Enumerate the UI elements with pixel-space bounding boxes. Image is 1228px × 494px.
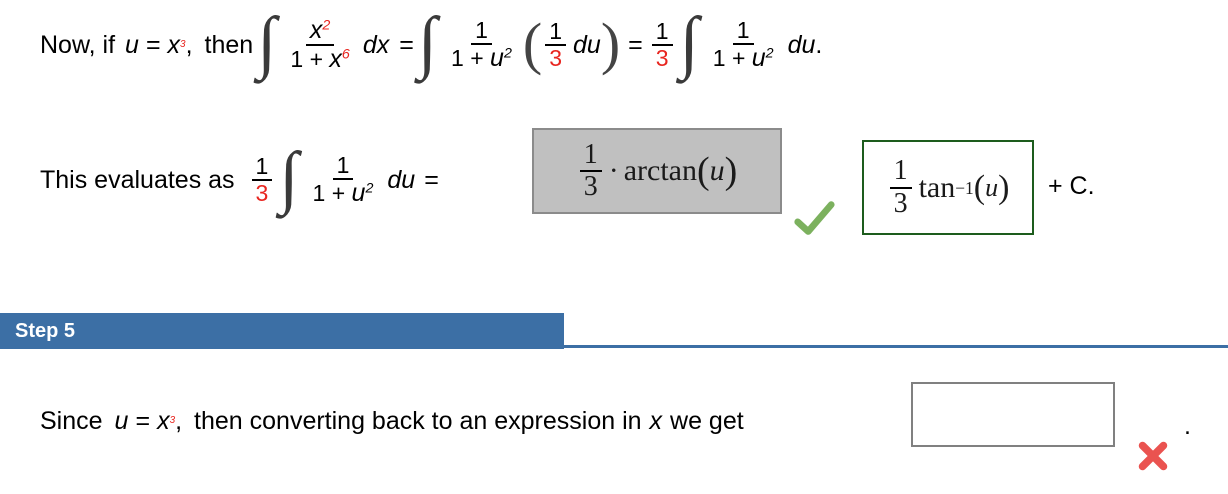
integrand3-den-one: 1 — [713, 45, 726, 71]
green-answer-paren-close: ) — [998, 176, 1009, 200]
gray-answer-arg: u — [710, 154, 725, 188]
line3-period: . — [1184, 408, 1191, 444]
equation-line-1: Now, if u = x 3 , then ∫ x2 1 + x6 dx = … — [40, 10, 822, 80]
coefficient-fraction-1: 1 3 — [545, 19, 566, 71]
line3-period-text: . — [1184, 412, 1191, 441]
gray-answer-expression: 1 3 · arctan ( u ) — [577, 140, 738, 202]
coef2-denominator: 3 — [652, 46, 673, 71]
differential-dx: dx — [363, 31, 389, 60]
line3-equals-sign: = — [135, 407, 150, 436]
gray-answer-paren-close: ) — [725, 158, 738, 185]
gray-answer-function: arctan — [624, 154, 697, 188]
line1-substitution-var: u — [125, 31, 139, 60]
line2-lead-text: This evaluates as — [40, 166, 235, 195]
line2-integrand-den-base: u — [352, 179, 366, 207]
step-title: Step 5 — [15, 320, 75, 343]
integral-sign-1: ∫ — [257, 21, 276, 64]
line3-variable-x: x — [650, 407, 663, 436]
line3-substitution-var: u — [115, 407, 129, 436]
constant-of-integration: + C. — [1048, 168, 1095, 204]
line3-lead-text: Since — [40, 407, 103, 436]
green-answer-function: tan — [919, 171, 956, 205]
integrand1-den-base: x — [329, 45, 342, 73]
answer-input-box[interactable] — [911, 382, 1115, 447]
gray-answer-fraction: 1 3 — [580, 140, 602, 202]
line1-comma: , — [186, 31, 193, 60]
gray-answer-frac-den: 3 — [580, 172, 602, 202]
line2-integrand-den-one: 1 — [313, 180, 326, 206]
integrand2-den-exponent: 2 — [504, 45, 512, 61]
integrand1-num-base: x — [310, 16, 323, 44]
integral-sign-4: ∫ — [279, 156, 298, 199]
line2-integrand-fraction: 1 1 + u2 — [309, 153, 378, 207]
integrand2-num: 1 — [475, 17, 488, 43]
coefficient-fraction-2: 1 3 — [652, 19, 673, 71]
step-header-bar: Step 5 — [0, 313, 564, 349]
gray-answer-dot: · — [609, 154, 619, 188]
green-answer-paren-open: ( — [974, 176, 985, 200]
correct-answer-box: 1 3 tan−1 ( u ) — [862, 140, 1034, 235]
line2-coefficient-fraction: 1 3 — [252, 154, 273, 206]
line1-lead-text: Now, if — [40, 31, 115, 60]
integrand3-den-exponent: 2 — [766, 45, 774, 61]
line1-equals-2: = — [399, 31, 414, 60]
integrand1-den-exponent: 6 — [342, 46, 350, 62]
line3-mid-text-b: we get — [670, 407, 744, 436]
green-answer-arg: u — [985, 173, 998, 203]
coef1-denominator: 3 — [545, 46, 566, 71]
line1-period: . — [815, 31, 822, 60]
integrand-fraction-2: 1 1 + u2 — [447, 18, 516, 72]
green-answer-fraction: 1 3 — [890, 156, 912, 218]
step-header-rule — [564, 345, 1228, 348]
coef1-numerator: 1 — [545, 19, 566, 46]
line3-mid-text-a: then converting back to an expression in — [194, 407, 642, 436]
integrand1-num-exponent: 2 — [322, 17, 330, 33]
integrand2-den-base: u — [490, 44, 504, 72]
coef2-numerator: 1 — [652, 19, 673, 46]
line2-equals-sign: = — [424, 166, 439, 195]
equation-line-3: Since u = x3 , then converting back to a… — [40, 400, 744, 442]
integrand3-num: 1 — [737, 17, 750, 43]
line2-integrand-den-exponent: 2 — [365, 180, 373, 196]
line3-comma: , — [175, 407, 182, 436]
green-check-icon — [791, 196, 837, 242]
integrand-fraction-1: x2 1 + x6 — [286, 17, 353, 73]
integrand2-den-one: 1 — [451, 45, 464, 71]
line1-equals-sign: = — [146, 31, 161, 60]
differential-du-2: du — [788, 31, 816, 60]
integrand3-den-base: u — [752, 44, 766, 72]
integrand2-den-plus: + — [470, 45, 483, 71]
line2-integrand-num: 1 — [337, 152, 350, 178]
differential-du-1: du — [573, 31, 601, 60]
integral-sign-2: ∫ — [418, 21, 437, 64]
line3-substitution-base: x — [157, 407, 170, 436]
line2-coef-denominator: 3 — [252, 181, 273, 206]
paren-open-1: ( — [523, 29, 542, 58]
paren-close-1: ) — [601, 29, 620, 58]
line2-differential-du: du — [387, 166, 415, 195]
gray-answer-paren-open: ( — [697, 158, 710, 185]
line2-coef-numerator: 1 — [252, 154, 273, 181]
integrand-fraction-3: 1 1 + u2 — [709, 18, 778, 72]
line1-then-text: then — [205, 31, 254, 60]
integrand1-den-one: 1 — [290, 46, 303, 72]
integral-sign-3: ∫ — [680, 21, 699, 64]
line1-substitution-base: x — [168, 31, 181, 60]
green-answer-frac-den: 3 — [890, 189, 912, 219]
line1-equals-3: = — [628, 31, 643, 60]
integrand1-den-plus: + — [310, 46, 323, 72]
integrand3-den-plus: + — [732, 45, 745, 71]
submitted-answer-box[interactable]: 1 3 · arctan ( u ) — [532, 128, 782, 214]
gray-answer-frac-num: 1 — [580, 140, 602, 172]
line2-integrand-den-plus: + — [332, 180, 345, 206]
equation-line-2: This evaluates as 1 3 ∫ 1 1 + u2 du = — [40, 145, 439, 215]
plus-c-text: + C. — [1048, 172, 1095, 201]
red-x-icon — [1134, 437, 1174, 477]
green-answer-expression: 1 3 tan−1 ( u ) — [887, 156, 1010, 218]
green-answer-frac-num: 1 — [890, 156, 912, 188]
